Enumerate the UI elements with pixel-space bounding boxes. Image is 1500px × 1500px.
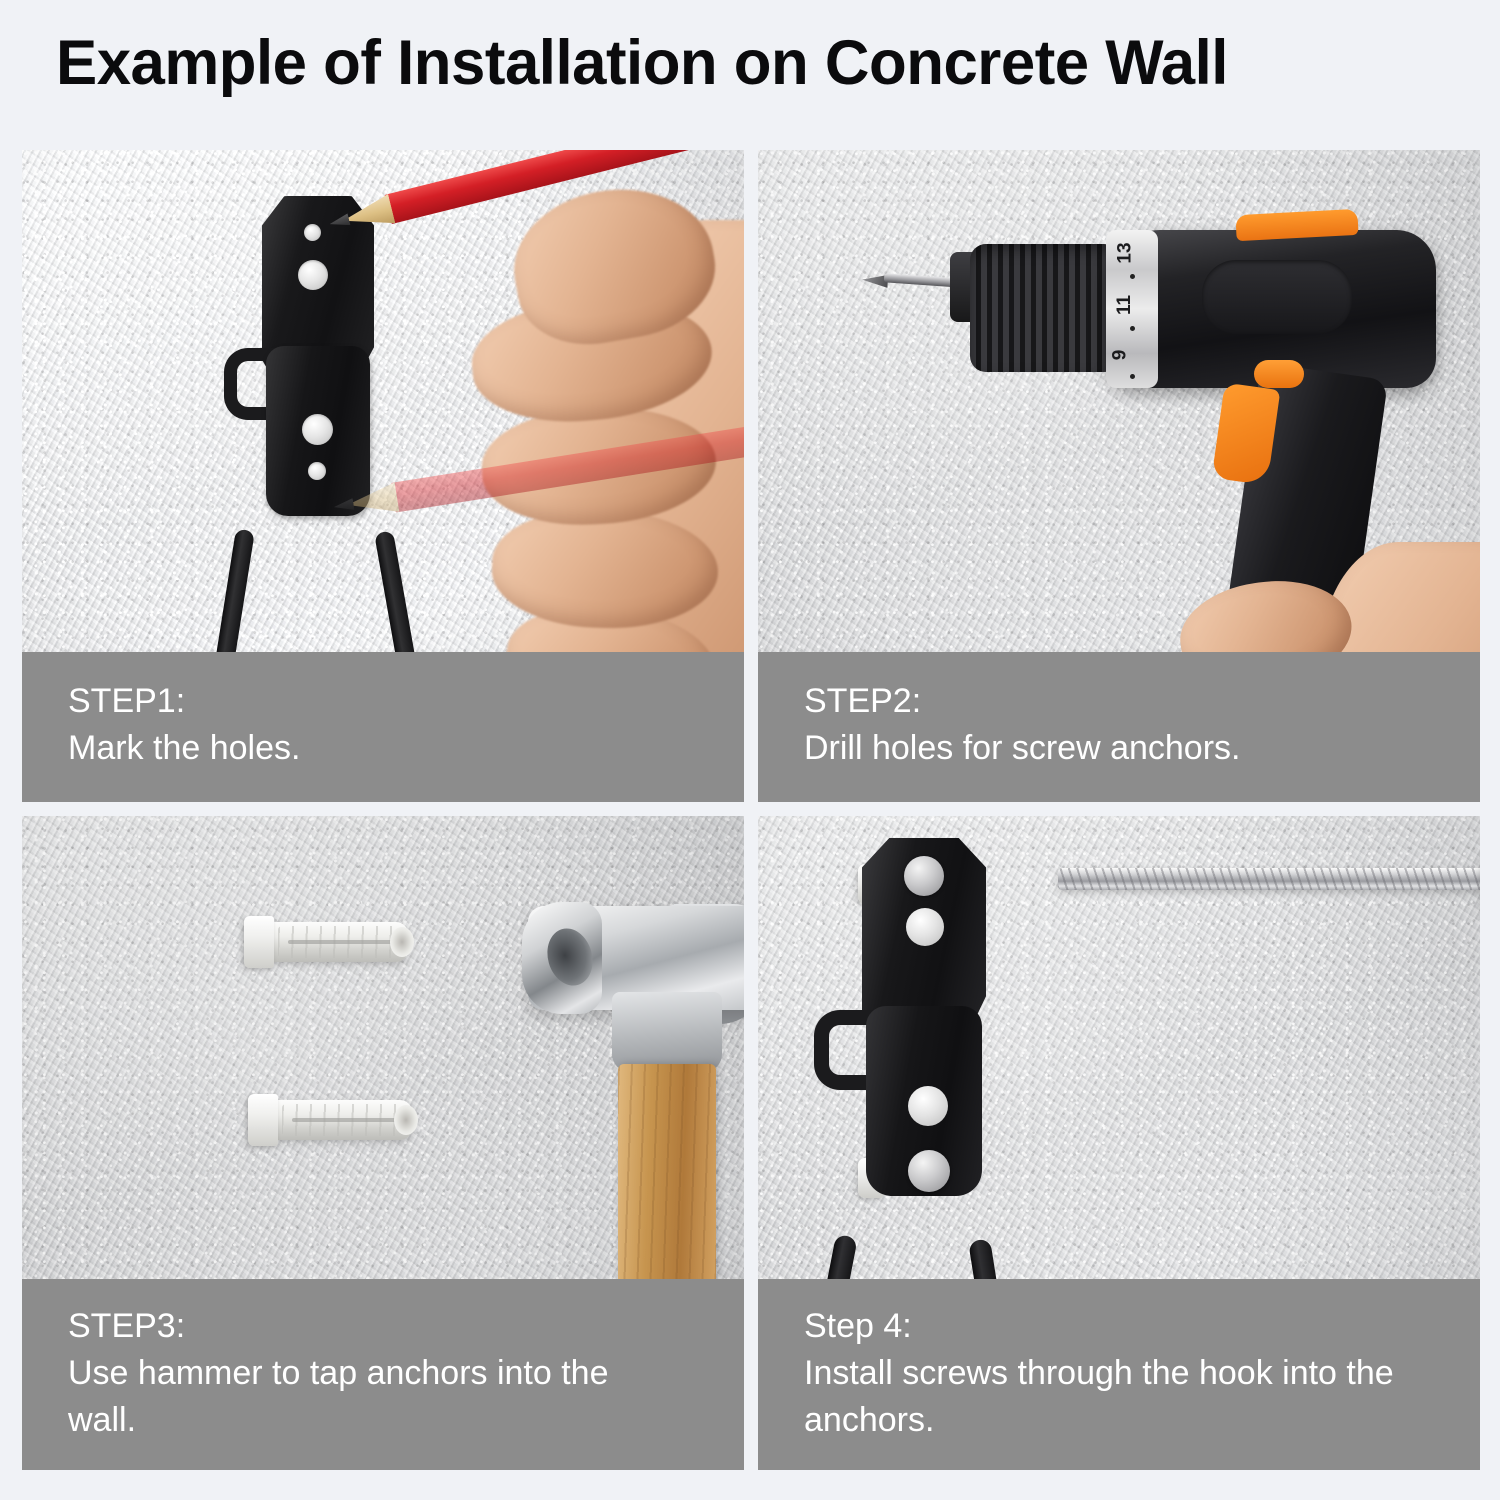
page-title: Example of Installation on Concrete Wall <box>56 30 1228 96</box>
step-2-caption: STEP2: Drill holes for screw anchors. <box>758 652 1480 802</box>
step-4-label: Step 4: <box>804 1303 1434 1350</box>
clutch-number-11: 11 <box>1114 295 1136 315</box>
step-3-line-2: wall. <box>68 1397 698 1444</box>
screw-head-icon-1 <box>904 856 944 896</box>
step-panel-4: Step 4: Install screws through the hook … <box>758 816 1480 1470</box>
wall-hook-bracket-icon <box>828 838 1038 1338</box>
step-4-line-1: Install screws through the hook into the <box>804 1350 1434 1397</box>
step-3-line-1: Use hammer to tap anchors into the <box>68 1350 698 1397</box>
step-1-caption: STEP1: Mark the holes. <box>22 652 744 802</box>
step-2-label: STEP2: <box>804 678 1434 725</box>
step-panel-1: STEP1: Mark the holes. <box>22 150 744 802</box>
clutch-number-9: 9 <box>1109 350 1131 361</box>
steps-grid: STEP1: Mark the holes. 13 11 <box>22 150 1480 1472</box>
step-2-line-1: Drill holes for screw anchors. <box>804 725 1434 772</box>
step-3-caption: STEP3: Use hammer to tap anchors into th… <box>22 1279 744 1470</box>
wall-anchor-icon-1 <box>244 916 424 968</box>
drill-clutch-ring-icon: 13 11 9 <box>1106 230 1158 388</box>
step-1-line-1: Mark the holes. <box>68 725 698 772</box>
step-3-label: STEP3: <box>68 1303 698 1350</box>
screwdriver-icon <box>1058 824 1480 974</box>
step-panel-3: STEP3: Use hammer to tap anchors into th… <box>22 816 744 1470</box>
step-4-caption: Step 4: Install screws through the hook … <box>758 1279 1480 1470</box>
step-panel-2: 13 11 9 STEP2: Drill holes fo <box>758 150 1480 802</box>
screwdriver-shank-icon <box>1058 868 1480 890</box>
step-4-line-2: anchors. <box>804 1397 1434 1444</box>
wall-anchor-icon-2 <box>248 1094 428 1146</box>
step-1-label: STEP1: <box>68 678 698 725</box>
clutch-number-13: 13 <box>1115 242 1137 263</box>
drill-chuck-icon <box>970 244 1114 372</box>
installation-guide-page: Example of Installation on Concrete Wall <box>0 0 1500 1500</box>
screw-head-icon-2 <box>908 1150 950 1192</box>
